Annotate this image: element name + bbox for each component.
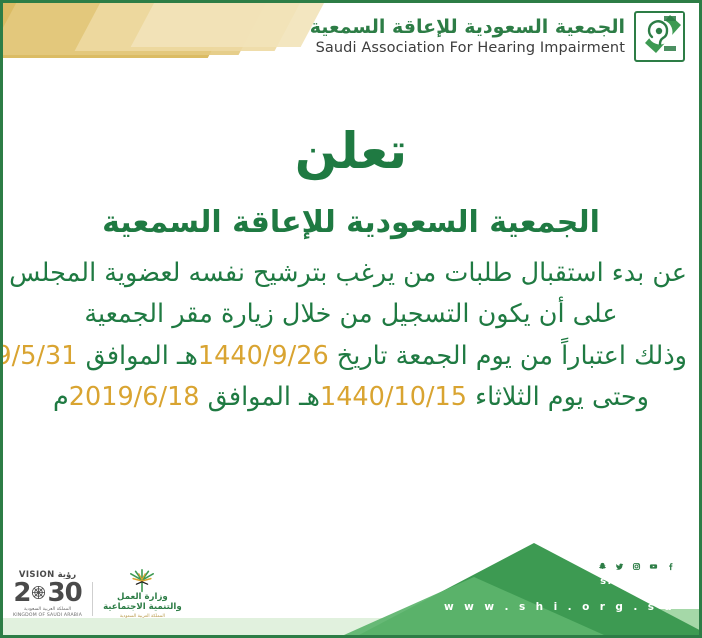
logo-divider: [92, 582, 93, 616]
social-icon-row[interactable]: [595, 559, 677, 573]
vision2030-emblem-icon: [30, 584, 47, 601]
start-prefix: وذلك اعتباراً من يوم الجمعة تاريخ: [337, 341, 687, 371]
mountain-light-left: [3, 618, 423, 635]
gold-stripe-1: [3, 3, 258, 58]
ministry-name-line2: والتنمية الاجتماعية: [103, 603, 182, 613]
social-handle[interactable]: shi.org.sa: [600, 576, 672, 587]
start-hijri-suffix: هـ: [177, 341, 198, 371]
header-text: الجمعية السعودية للإعاقة السمعية Saudi A…: [310, 17, 625, 57]
twitter-icon[interactable]: [612, 559, 626, 573]
end-prefix: وحتى يوم الثلاثاء: [475, 382, 649, 412]
end-hijri-suffix: هـ: [299, 382, 320, 412]
instagram-icon[interactable]: [629, 559, 643, 573]
end-middle: الموافق: [208, 382, 291, 412]
poster-header: الجمعية السعودية للإعاقة السمعية Saudi A…: [310, 11, 685, 62]
social-links[interactable]: shi.org.sa: [595, 559, 677, 587]
ministry-logo: وزارة العمل والتنمية الاجتماعية المملكة …: [103, 569, 182, 619]
page-title: تعلن: [15, 123, 687, 181]
start-middle: الموافق: [86, 341, 169, 371]
announcement-line-2: على أن يكون التسجيل من خلال زيارة مقر ال…: [15, 294, 687, 335]
announcement-poster: الجمعية السعودية للإعاقة السمعية Saudi A…: [0, 0, 702, 638]
palm-swords-icon: [126, 569, 158, 593]
org-name-en: Saudi Association For Hearing Impairment: [310, 40, 625, 56]
announcement-start-date-line: وذلك اعتباراً من يوم الجمعة تاريخ 1440/9…: [15, 336, 687, 377]
facebook-icon[interactable]: [663, 559, 677, 573]
vision2030-logo: VISION رؤية 2 30 المملكة العربية السعودي…: [13, 571, 82, 619]
vision-kingdom-ar: المملكة العربية السعودية: [24, 608, 71, 613]
website-url[interactable]: w w w . s h i . o r g . s a: [444, 601, 675, 613]
announcement-subject: الجمعية السعودية للإعاقة السمعية: [15, 203, 687, 244]
gold-ribbon-decoration: [3, 3, 333, 83]
org-name-ar: الجمعية السعودية للإعاقة السمعية: [310, 17, 625, 38]
announcement-content: تعلن الجمعية السعودية للإعاقة السمعية عن…: [3, 123, 699, 418]
start-hijri-date: 1440/9/26: [198, 341, 329, 371]
ear-hearing-icon: [634, 11, 685, 62]
vision-year: 2 30: [13, 580, 81, 606]
announcement-end-date-line: وحتى يوم الثلاثاء 1440/10/15هـ الموافق 2…: [15, 377, 687, 418]
ministry-kingdom: المملكة العربية السعودية: [120, 614, 165, 619]
footer-partner-logos: VISION رؤية 2 30 المملكة العربية السعودي…: [13, 569, 182, 619]
announcement-line-1: عن بدء استقبال طلبات من يرغب بترشيح نفسه…: [15, 253, 687, 294]
start-gregorian-date: 2019/5/31: [0, 341, 77, 371]
youtube-icon[interactable]: [646, 559, 660, 573]
end-gregorian-date: 2019/6/18: [69, 382, 200, 412]
end-gregorian-suffix: م: [53, 382, 69, 412]
end-hijri-date: 1440/10/15: [320, 382, 467, 412]
gold-stripe-3: [75, 3, 322, 51]
snapchat-icon[interactable]: [595, 559, 609, 573]
vision-kingdom-en: KINGDOM OF SAUDI ARABIA: [13, 614, 82, 619]
gold-stripe-2: [3, 3, 287, 55]
gold-stripe-4: [131, 3, 333, 47]
mountain-dark: [359, 543, 699, 635]
